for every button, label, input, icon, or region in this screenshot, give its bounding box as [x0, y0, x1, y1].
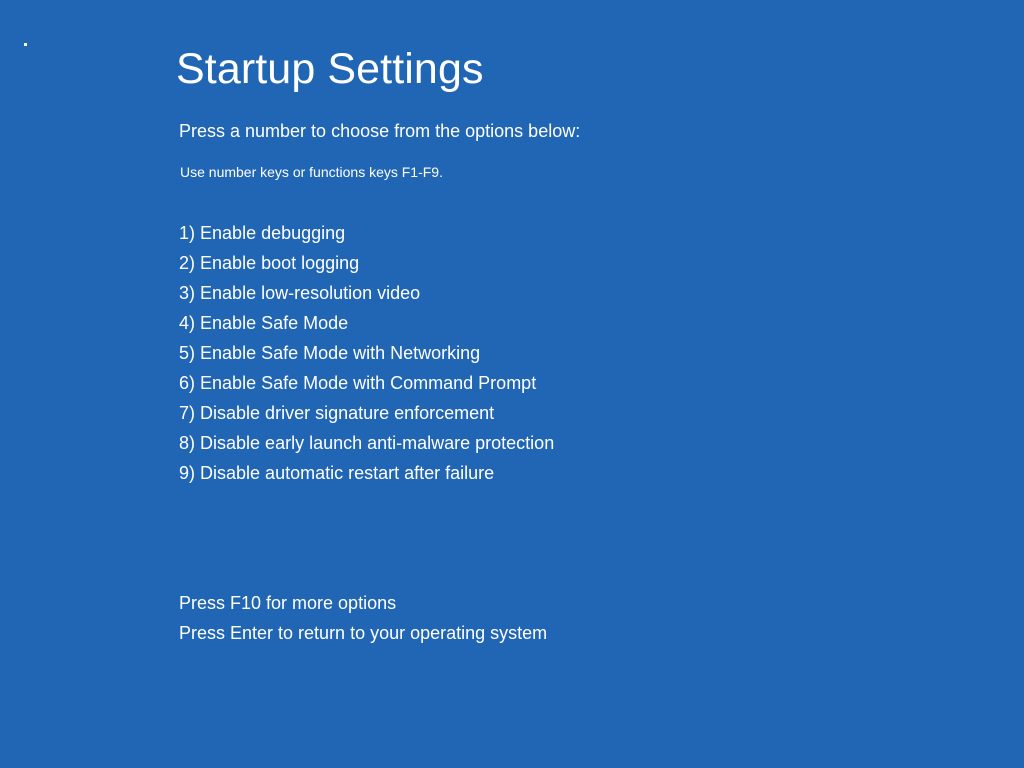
hint-text: Use number keys or functions keys F1-F9.	[180, 163, 443, 182]
option-label: Disable driver signature enforcement	[200, 403, 494, 423]
option-key: 4)	[179, 313, 195, 333]
footer-return-to-os[interactable]: Press Enter to return to your operating …	[179, 618, 547, 648]
startup-settings-screen: Startup Settings Press a number to choos…	[0, 0, 1024, 768]
startup-options-list: 1) Enable debugging 2) Enable boot loggi…	[179, 218, 554, 488]
option-key: 7)	[179, 403, 195, 423]
option-key: 6)	[179, 373, 195, 393]
option-key: 1)	[179, 223, 195, 243]
option-label: Enable Safe Mode with Command Prompt	[200, 373, 536, 393]
option-label: Enable boot logging	[200, 253, 359, 273]
cursor-dot-icon	[24, 43, 27, 46]
option-key: 2)	[179, 253, 195, 273]
option-label: Disable early launch anti-malware protec…	[200, 433, 554, 453]
list-item-option-4[interactable]: 4) Enable Safe Mode	[179, 308, 554, 338]
page-title: Startup Settings	[176, 44, 484, 94]
option-label: Enable debugging	[200, 223, 345, 243]
list-item-option-1[interactable]: 1) Enable debugging	[179, 218, 554, 248]
option-key: 8)	[179, 433, 195, 453]
list-item-option-9[interactable]: 9) Disable automatic restart after failu…	[179, 458, 554, 488]
list-item-option-5[interactable]: 5) Enable Safe Mode with Networking	[179, 338, 554, 368]
list-item-option-3[interactable]: 3) Enable low-resolution video	[179, 278, 554, 308]
option-key: 3)	[179, 283, 195, 303]
prompt-text: Press a number to choose from the option…	[179, 119, 580, 143]
option-key: 5)	[179, 343, 195, 363]
list-item-option-2[interactable]: 2) Enable boot logging	[179, 248, 554, 278]
option-label: Enable Safe Mode	[200, 313, 348, 333]
option-key: 9)	[179, 463, 195, 483]
option-label: Disable automatic restart after failure	[200, 463, 494, 483]
option-label: Enable low-resolution video	[200, 283, 420, 303]
footer-instructions: Press F10 for more options Press Enter t…	[179, 588, 547, 648]
list-item-option-8[interactable]: 8) Disable early launch anti-malware pro…	[179, 428, 554, 458]
list-item-option-6[interactable]: 6) Enable Safe Mode with Command Prompt	[179, 368, 554, 398]
footer-more-options[interactable]: Press F10 for more options	[179, 588, 547, 618]
list-item-option-7[interactable]: 7) Disable driver signature enforcement	[179, 398, 554, 428]
option-label: Enable Safe Mode with Networking	[200, 343, 480, 363]
